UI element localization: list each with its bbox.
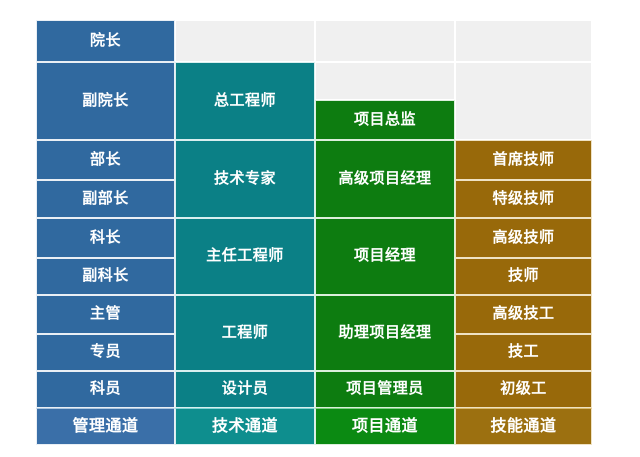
matrix-cell-project-xiangmuzongjian[interactable]: 项目总监: [315, 100, 455, 140]
matrix-footer-management-channel[interactable]: 管理通道: [36, 408, 175, 445]
matrix-footer-project-channel[interactable]: 项目通道: [315, 408, 455, 445]
matrix-cell-management-keyuan[interactable]: 科员: [36, 371, 175, 408]
career-path-matrix: 院长 副院长 总工程师 项目总监 部长 技术专家 高级项目经理 首席技师 副部长…: [36, 20, 592, 445]
matrix-cell-project-xiangmuguanliyuan[interactable]: 项目管理员: [315, 371, 455, 408]
matrix-cell-technical-empty-1: [175, 20, 315, 62]
matrix-cell-management-kezhang[interactable]: 科长: [36, 218, 175, 258]
matrix-cell-project-empty-1: [315, 20, 455, 62]
matrix-cell-technical-gongchengshi[interactable]: 工程师: [175, 295, 315, 371]
matrix-cell-technical-zonggongchengshi[interactable]: 总工程师: [175, 62, 315, 140]
matrix-cell-project-xiangmujingli[interactable]: 项目经理: [315, 218, 455, 295]
matrix-cell-skill-gaojijishi[interactable]: 高级技师: [455, 218, 592, 258]
matrix-cell-project-empty-2: [315, 62, 455, 100]
matrix-cell-skill-shoujijishi[interactable]: 首席技师: [455, 140, 592, 180]
matrix-cell-management-yuanzhang[interactable]: 院长: [36, 20, 175, 62]
matrix-footer-skill-channel[interactable]: 技能通道: [455, 408, 592, 445]
matrix-cell-skill-empty-2: [455, 62, 592, 140]
matrix-cell-technical-shejiyuan[interactable]: 设计员: [175, 371, 315, 408]
matrix-cell-project-gaojixiangmujingli[interactable]: 高级项目经理: [315, 140, 455, 218]
matrix-cell-technical-zhurengongchengshi[interactable]: 主任工程师: [175, 218, 315, 295]
matrix-cell-skill-empty-1: [455, 20, 592, 62]
matrix-cell-management-zhuguan[interactable]: 主管: [36, 295, 175, 334]
matrix-cell-management-fuyuanzhang[interactable]: 副院长: [36, 62, 175, 140]
matrix-cell-management-fukezhang[interactable]: 副科长: [36, 258, 175, 295]
matrix-cell-technical-jishuzhuanjia[interactable]: 技术专家: [175, 140, 315, 218]
matrix-cell-skill-gaojijigong[interactable]: 高级技工: [455, 295, 592, 334]
matrix-cell-management-fubuzhang[interactable]: 副部长: [36, 180, 175, 218]
matrix-footer-technical-channel[interactable]: 技术通道: [175, 408, 315, 445]
matrix-cell-management-zhuanyuan[interactable]: 专员: [36, 334, 175, 371]
matrix-cell-project-zhulixiangmujingli[interactable]: 助理项目经理: [315, 295, 455, 371]
matrix-cell-skill-jigong[interactable]: 技工: [455, 334, 592, 371]
matrix-cell-management-buzhang[interactable]: 部长: [36, 140, 175, 180]
matrix-cell-skill-jishi[interactable]: 技师: [455, 258, 592, 295]
matrix-cell-skill-tejijishi[interactable]: 特级技师: [455, 180, 592, 218]
matrix-cell-skill-chujigong[interactable]: 初级工: [455, 371, 592, 408]
